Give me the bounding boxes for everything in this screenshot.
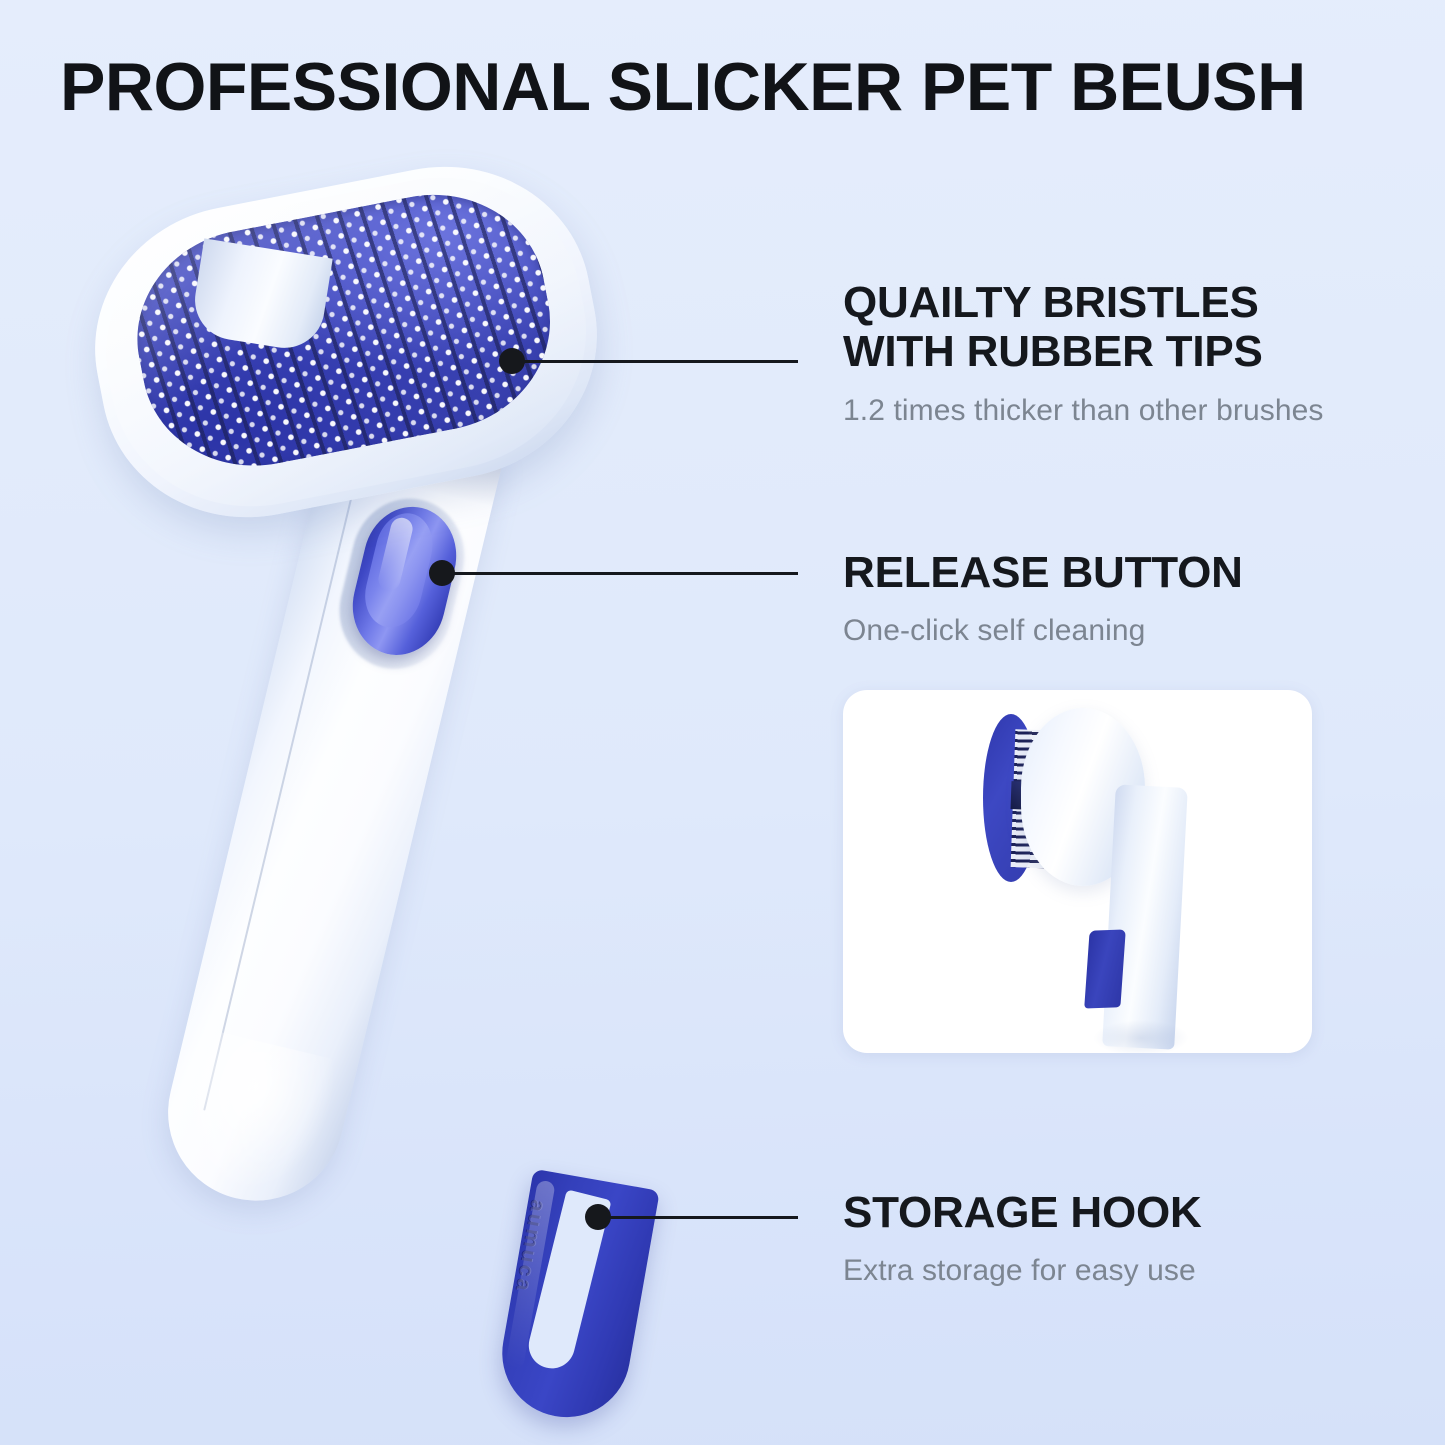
product-illustration: aumuca	[0, 0, 900, 1445]
callout-heading: STORAGE HOOK	[843, 1188, 1202, 1237]
handle-bottom-highlight	[167, 1028, 342, 1207]
storage-hook-part: aumuca	[492, 1169, 660, 1428]
callout-heading-line-1: STORAGE HOOK	[843, 1188, 1202, 1237]
callout-heading-line-1: RELEASE BUTTON	[843, 548, 1243, 597]
callout-subtext: 1.2 times thicker than other brushes	[843, 393, 1324, 429]
brush-head	[71, 141, 621, 543]
callout-release-button: RELEASE BUTTON One-click self cleaning	[843, 548, 1243, 649]
callout-subtext: Extra storage for easy use	[843, 1253, 1202, 1289]
inset-drop-shadow	[1093, 1020, 1189, 1053]
infographic-canvas: PROFESSIONAL SLICKER PET BEUSH	[0, 0, 1445, 1445]
callout-heading: QUAILTY BRISTLES WITH RUBBER TIPS	[843, 278, 1324, 377]
callout-quality-bristles: QUAILTY BRISTLES WITH RUBBER TIPS 1.2 ti…	[843, 278, 1324, 429]
handle-seam-line	[203, 439, 366, 1110]
callout-leader-line-quality-bristles	[520, 360, 798, 363]
callout-leader-line-release-button	[450, 572, 798, 575]
callout-heading-line-1: QUAILTY BRISTLES	[843, 278, 1324, 327]
callout-storage-hook: STORAGE HOOK Extra storage for easy use	[843, 1188, 1202, 1289]
callout-heading: RELEASE BUTTON	[843, 548, 1243, 597]
inset-brush-handle	[1102, 784, 1188, 1049]
callout-subtext: One-click self cleaning	[843, 613, 1243, 649]
inset-photo-card	[843, 690, 1312, 1053]
callout-leader-line-storage-hook	[606, 1216, 798, 1219]
inset-release-button	[1084, 929, 1126, 1008]
callout-heading-line-2: WITH RUBBER TIPS	[843, 327, 1324, 376]
